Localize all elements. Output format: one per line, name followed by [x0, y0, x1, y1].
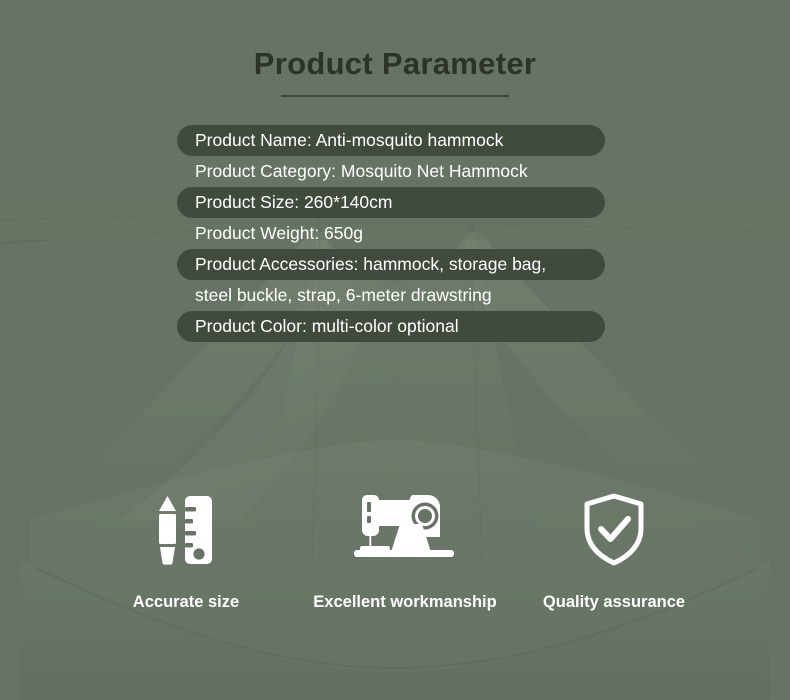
- parameter-row-product-category: Product Category: Mosquito Net Hammock: [177, 156, 605, 187]
- feature-excellent-workmanship: Excellent workmanship: [296, 487, 514, 612]
- parameter-text: Product Accessories: hammock, storage ba…: [195, 249, 546, 280]
- shield-check-icon: [581, 487, 647, 573]
- parameter-row-product-color: Product Color: multi-color optional: [177, 311, 605, 342]
- parameter-text: Product Size: 260*140cm: [195, 187, 392, 218]
- parameter-list: Product Name: Anti-mosquito hammock Prod…: [177, 125, 605, 342]
- parameter-row-product-name: Product Name: Anti-mosquito hammock: [177, 125, 605, 156]
- parameter-row-product-accessories: Product Accessories: hammock, storage ba…: [177, 249, 605, 280]
- title-divider: [281, 95, 509, 97]
- feature-label: Accurate size: [133, 593, 239, 612]
- parameter-row-product-size: Product Size: 260*140cm: [177, 187, 605, 218]
- parameter-text: Product Color: multi-color optional: [195, 311, 459, 342]
- parameter-text: Product Name: Anti-mosquito hammock: [195, 125, 503, 156]
- parameter-row-product-accessories-continued: steel buckle, strap, 6-meter drawstring: [177, 280, 605, 311]
- page-title-block: Product Parameter: [0, 46, 790, 82]
- parameter-text: steel buckle, strap, 6-meter drawstring: [195, 280, 492, 311]
- pencil-ruler-icon: [155, 487, 217, 573]
- sewing-machine-icon: [352, 487, 458, 573]
- parameter-text: Product Category: Mosquito Net Hammock: [195, 156, 528, 187]
- parameter-row-product-weight: Product Weight: 650g: [177, 218, 605, 249]
- product-parameter-page: Product Parameter Product Name: Anti-mos…: [0, 0, 790, 700]
- feature-strip: Accurate size: [0, 487, 790, 612]
- feature-quality-assurance: Quality assurance: [514, 487, 714, 612]
- feature-label: Quality assurance: [543, 593, 685, 612]
- page-title: Product Parameter: [0, 46, 790, 82]
- parameter-text: Product Weight: 650g: [195, 218, 363, 249]
- feature-label: Excellent workmanship: [313, 593, 496, 612]
- feature-accurate-size: Accurate size: [76, 487, 296, 612]
